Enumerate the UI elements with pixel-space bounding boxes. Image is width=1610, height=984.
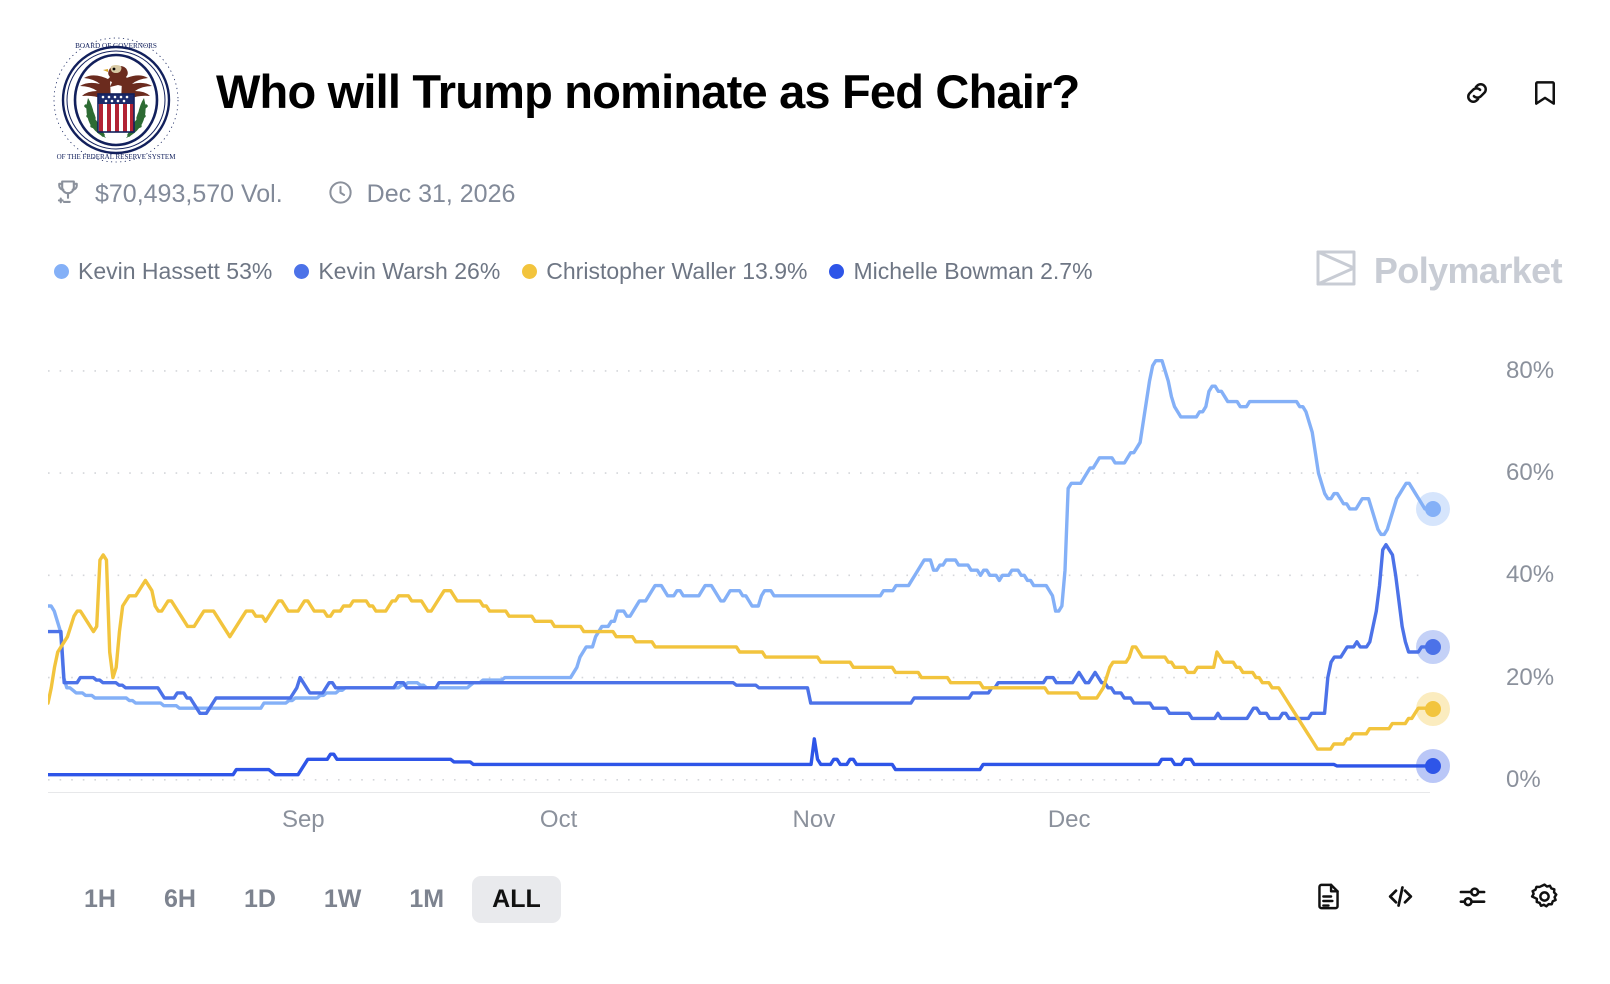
chart-footer: 1H6H1D1W1MALL: [48, 876, 1562, 936]
range-button-1h[interactable]: 1H: [64, 876, 136, 923]
x-tick-label: Nov: [793, 806, 836, 834]
chart-tools: [1310, 878, 1562, 914]
volume-group: $70,493,570 Vol.: [54, 178, 283, 211]
chart-legend: Kevin Hassett 53%Kevin Warsh 26%Christop…: [54, 258, 1093, 285]
x-axis-labels: SepOctNovDec: [48, 806, 1430, 846]
range-button-1m[interactable]: 1M: [389, 876, 464, 923]
range-button-1d[interactable]: 1D: [224, 876, 296, 923]
price-chart[interactable]: 0%20%40%60%80% SepOctNovDec: [48, 330, 1562, 800]
legend-item-michelle-bowman[interactable]: Michelle Bowman 2.7%: [829, 258, 1092, 285]
federal-reserve-seal-icon: BOARD OF GOVERNORS OF THE FEDERAL RESERV…: [48, 32, 184, 168]
legend-item-label: Christopher Waller 13.9%: [546, 258, 807, 285]
y-tick-label: 80%: [1506, 357, 1554, 385]
y-tick-label: 60%: [1506, 459, 1554, 487]
series-end-dot-kevin-hassett: [1425, 501, 1441, 517]
polymarket-wordmark: Polymarket: [1374, 250, 1562, 292]
legend-item-label: Michelle Bowman 2.7%: [853, 258, 1092, 285]
polymarket-market-chart-page: BOARD OF GOVERNORS OF THE FEDERAL RESERV…: [0, 0, 1610, 984]
page-title: Who will Trump nominate as Fed Chair?: [216, 64, 1079, 119]
link-icon[interactable]: [1460, 76, 1494, 110]
range-button-all[interactable]: ALL: [472, 876, 561, 923]
trophy-plus-icon: [54, 178, 82, 211]
series-end-dot-christopher-waller: [1425, 701, 1441, 717]
y-axis-labels: 0%20%40%60%80%: [1446, 330, 1566, 790]
legend-item-label: Kevin Warsh 26%: [318, 258, 500, 285]
series-end-dot-michelle-bowman: [1425, 758, 1441, 774]
header-actions: [1460, 76, 1562, 110]
code-embed-icon[interactable]: [1382, 878, 1418, 914]
polymarket-brand: Polymarket: [1314, 248, 1562, 293]
svg-text:BOARD OF GOVERNORS: BOARD OF GOVERNORS: [75, 42, 157, 50]
legend-color-dot: [522, 264, 537, 279]
time-range-selector[interactable]: 1H6H1D1W1MALL: [64, 876, 561, 923]
x-axis-line: [48, 792, 1430, 793]
legend-color-dot: [54, 264, 69, 279]
series-line-kevin-warsh: [48, 545, 1428, 719]
end-date-text: Dec 31, 2026: [367, 180, 516, 209]
legend-item-kevin-warsh[interactable]: Kevin Warsh 26%: [294, 258, 500, 285]
x-tick-label: Sep: [282, 806, 325, 834]
polymarket-logo-icon: [1314, 248, 1358, 293]
legend-color-dot: [294, 264, 309, 279]
y-tick-label: 40%: [1506, 561, 1554, 589]
legend-item-christopher-waller[interactable]: Christopher Waller 13.9%: [522, 258, 807, 285]
market-header: BOARD OF GOVERNORS OF THE FEDERAL RESERV…: [48, 18, 1562, 168]
clock-icon: [327, 179, 354, 211]
series-line-michelle-bowman: [48, 739, 1428, 775]
bookmark-icon[interactable]: [1528, 76, 1562, 110]
y-tick-label: 0%: [1506, 766, 1541, 794]
sliders-icon[interactable]: [1454, 878, 1490, 914]
series-end-dot-kevin-warsh: [1425, 639, 1441, 655]
legend-color-dot: [829, 264, 844, 279]
date-group: Dec 31, 2026: [327, 179, 516, 211]
legend-item-label: Kevin Hassett 53%: [78, 258, 272, 285]
range-button-6h[interactable]: 6H: [144, 876, 216, 923]
x-tick-label: Oct: [540, 806, 577, 834]
y-tick-label: 20%: [1506, 664, 1554, 692]
legend-item-kevin-hassett[interactable]: Kevin Hassett 53%: [54, 258, 272, 285]
chart-plot-area[interactable]: [48, 330, 1428, 790]
x-tick-label: Dec: [1048, 806, 1091, 834]
volume-text: $70,493,570 Vol.: [95, 180, 283, 209]
svg-text:OF THE FEDERAL RESERVE SYSTEM: OF THE FEDERAL RESERVE SYSTEM: [57, 153, 177, 161]
document-icon[interactable]: [1310, 878, 1346, 914]
gear-icon[interactable]: [1526, 878, 1562, 914]
market-meta: $70,493,570 Vol. Dec 31, 2026: [54, 178, 515, 211]
range-button-1w[interactable]: 1W: [304, 876, 382, 923]
